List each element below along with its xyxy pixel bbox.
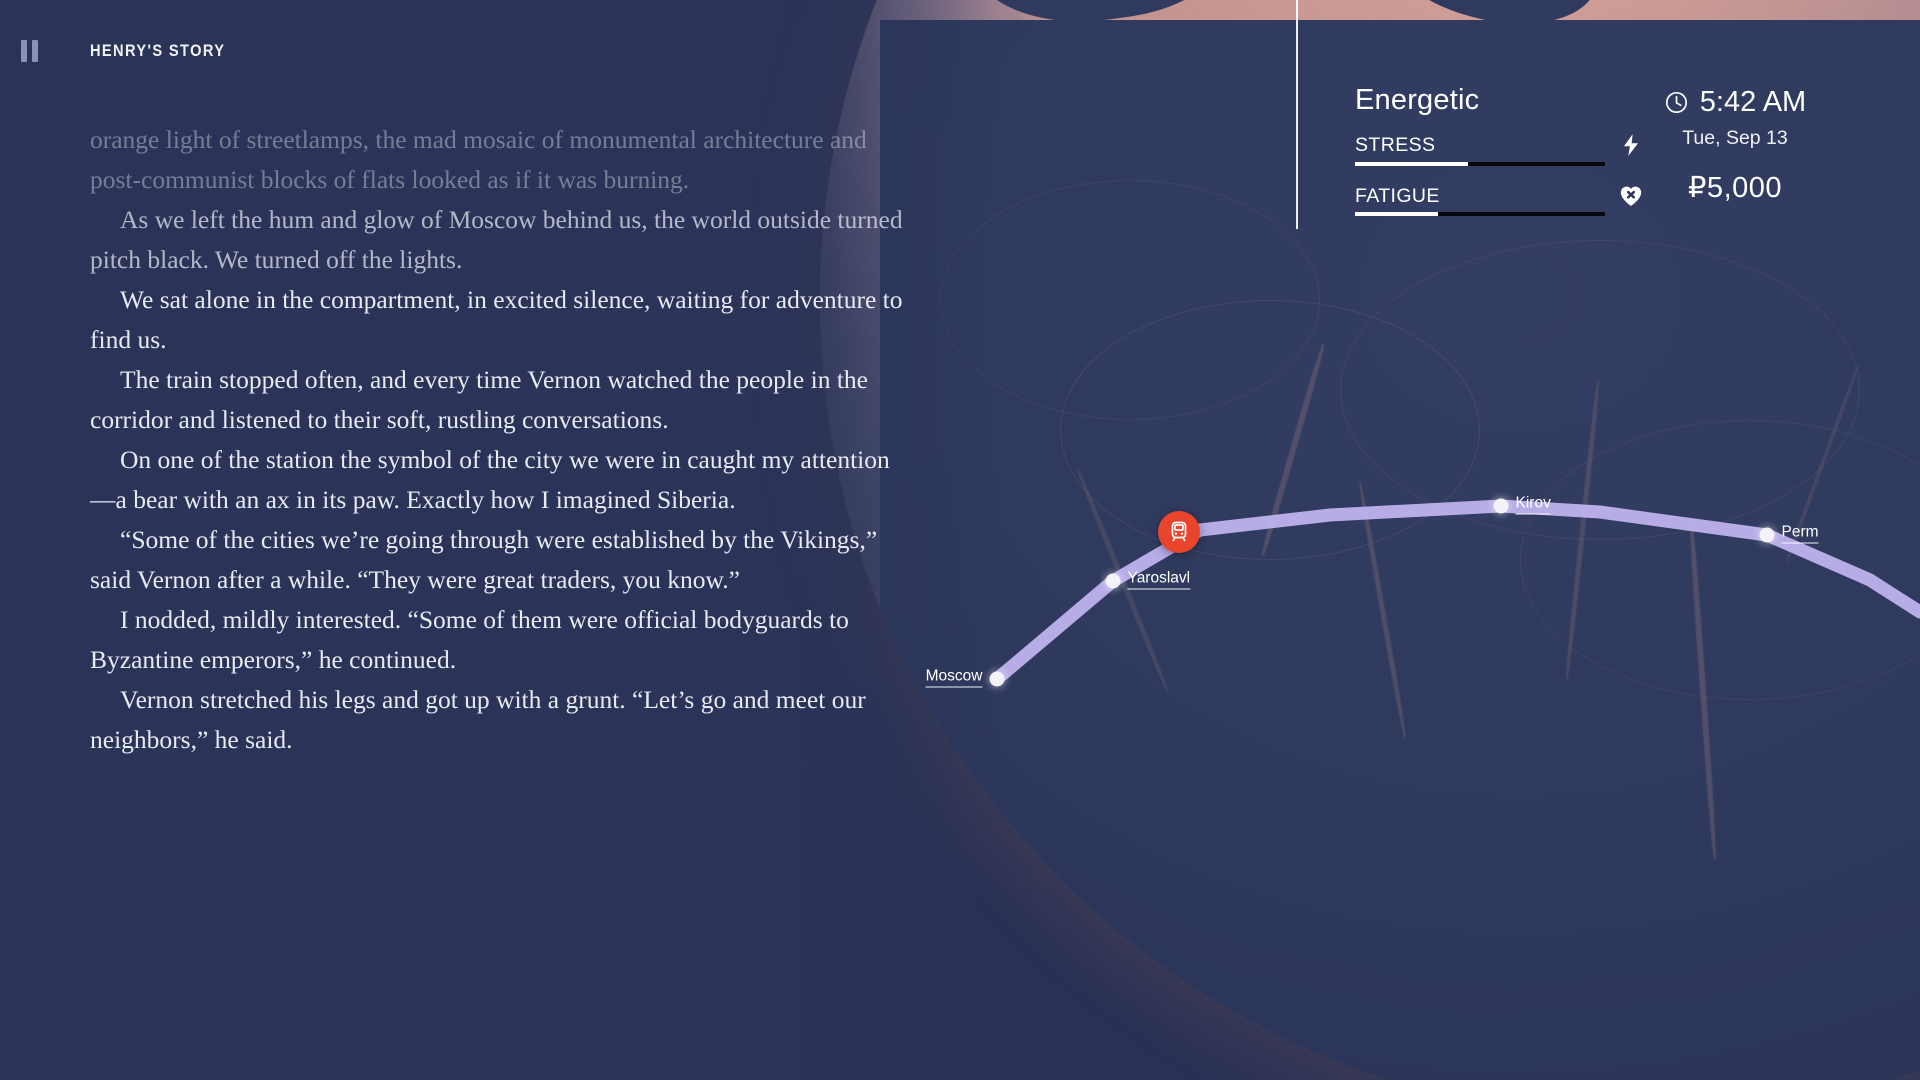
current-date: Tue, Sep 13 (1620, 129, 1850, 149)
train-marker[interactable] (1158, 511, 1200, 553)
story-text-panel[interactable]: orange light of streetlamps, the mad mos… (90, 120, 910, 760)
station-dot (1494, 499, 1509, 514)
station-dot (1106, 574, 1121, 589)
fatigue-label: FATIGUE (1355, 187, 1605, 207)
station-dot (1760, 528, 1775, 543)
pause-button[interactable] (16, 38, 42, 64)
stress-fill (1355, 162, 1468, 166)
fatigue-meter: FATIGUE (1355, 187, 1605, 217)
train-icon (1167, 520, 1191, 544)
stress-label: STRESS (1355, 136, 1605, 156)
story-paragraph: Vernon stretched his legs and got up wit… (90, 680, 910, 760)
station-label: Yaroslavl (1128, 570, 1191, 590)
stress-meter: STRESS (1355, 136, 1605, 166)
money-amount: ₽5,000 (1620, 174, 1850, 203)
story-paragraph: “Some of the cities we’re going through … (90, 520, 910, 600)
pause-icon-bar (32, 40, 38, 62)
clock-icon (1664, 90, 1689, 115)
stress-track (1355, 162, 1605, 166)
station-label: Kirov (1516, 495, 1551, 515)
station-kirov[interactable]: Kirov (1494, 499, 1509, 514)
page-title: HENRY'S STORY (90, 41, 225, 61)
story-paragraph: We sat alone in the compartment, in exci… (90, 280, 910, 360)
station-dot (990, 672, 1005, 687)
story-paragraph: The train stopped often, and every time … (90, 360, 910, 440)
story-paragraph: As we left the hum and glow of Moscow be… (90, 200, 910, 280)
game-screen: Moscow Yaroslavl Kirov Perm TRAIN TO VLA… (0, 0, 1920, 1080)
time-status-block: 5:42 AM Tue, Sep 13 ₽5,000 (1620, 88, 1850, 203)
pause-icon-bar (21, 40, 27, 62)
fatigue-fill (1355, 212, 1438, 216)
hud-divider (1296, 0, 1298, 229)
mood-status: Energetic (1355, 86, 1610, 115)
station-label: Perm (1782, 524, 1819, 544)
status-hud: Energetic STRESS FATIGUE (1355, 86, 1610, 216)
station-yaroslavl[interactable]: Yaroslavl (1106, 574, 1121, 589)
station-moscow[interactable]: Moscow (990, 672, 1005, 687)
current-time: 5:42 AM (1700, 88, 1806, 117)
station-label: Moscow (926, 668, 983, 688)
story-paragraph: orange light of streetlamps, the mad mos… (90, 120, 910, 200)
story-paragraph: I nodded, mildly interested. “Some of th… (90, 600, 910, 680)
time-row: 5:42 AM (1620, 88, 1850, 117)
story-paragraph: On one of the station the symbol of the … (90, 440, 910, 520)
fatigue-track (1355, 212, 1605, 216)
station-perm[interactable]: Perm (1760, 528, 1775, 543)
destination-banner: TRAIN TO VLADIVOSTOK (1879, 1052, 1920, 1080)
